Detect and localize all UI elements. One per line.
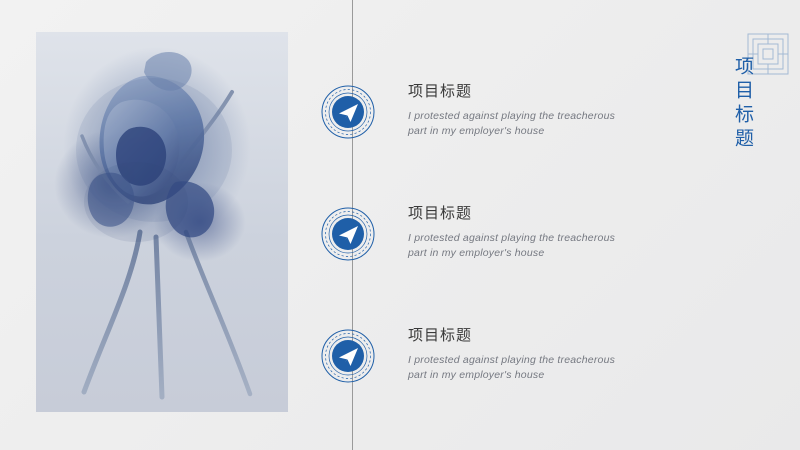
- list-item-body: I protested against playing the treacher…: [408, 353, 626, 383]
- paper-plane-icon[interactable]: [320, 206, 376, 262]
- list-item-title: 项目标题: [408, 324, 626, 345]
- slide: 项目标题 I protested against playing the tre…: [0, 0, 800, 450]
- list-item-body: I protested against playing the treacher…: [408, 231, 626, 261]
- list-item-body: I protested against playing the treacher…: [408, 109, 626, 139]
- list-item-text: 项目标题 I protested against playing the tre…: [408, 322, 626, 383]
- image-panel: [36, 32, 288, 412]
- list-item-title: 项目标题: [408, 80, 626, 101]
- list-item-title: 项目标题: [408, 202, 626, 223]
- lotus-illustration: [36, 32, 288, 412]
- list-item[interactable]: 项目标题 I protested against playing the tre…: [320, 322, 660, 408]
- content-list: 项目标题 I protested against playing the tre…: [320, 78, 660, 444]
- list-item[interactable]: 项目标题 I protested against playing the tre…: [320, 78, 660, 164]
- list-item-text: 项目标题 I protested against playing the tre…: [408, 200, 626, 261]
- paper-plane-icon[interactable]: [320, 84, 376, 140]
- paper-plane-icon[interactable]: [320, 328, 376, 384]
- list-item-text: 项目标题 I protested against playing the tre…: [408, 78, 626, 139]
- page-title: 项目标题: [726, 56, 754, 152]
- list-item[interactable]: 项目标题 I protested against playing the tre…: [320, 200, 660, 286]
